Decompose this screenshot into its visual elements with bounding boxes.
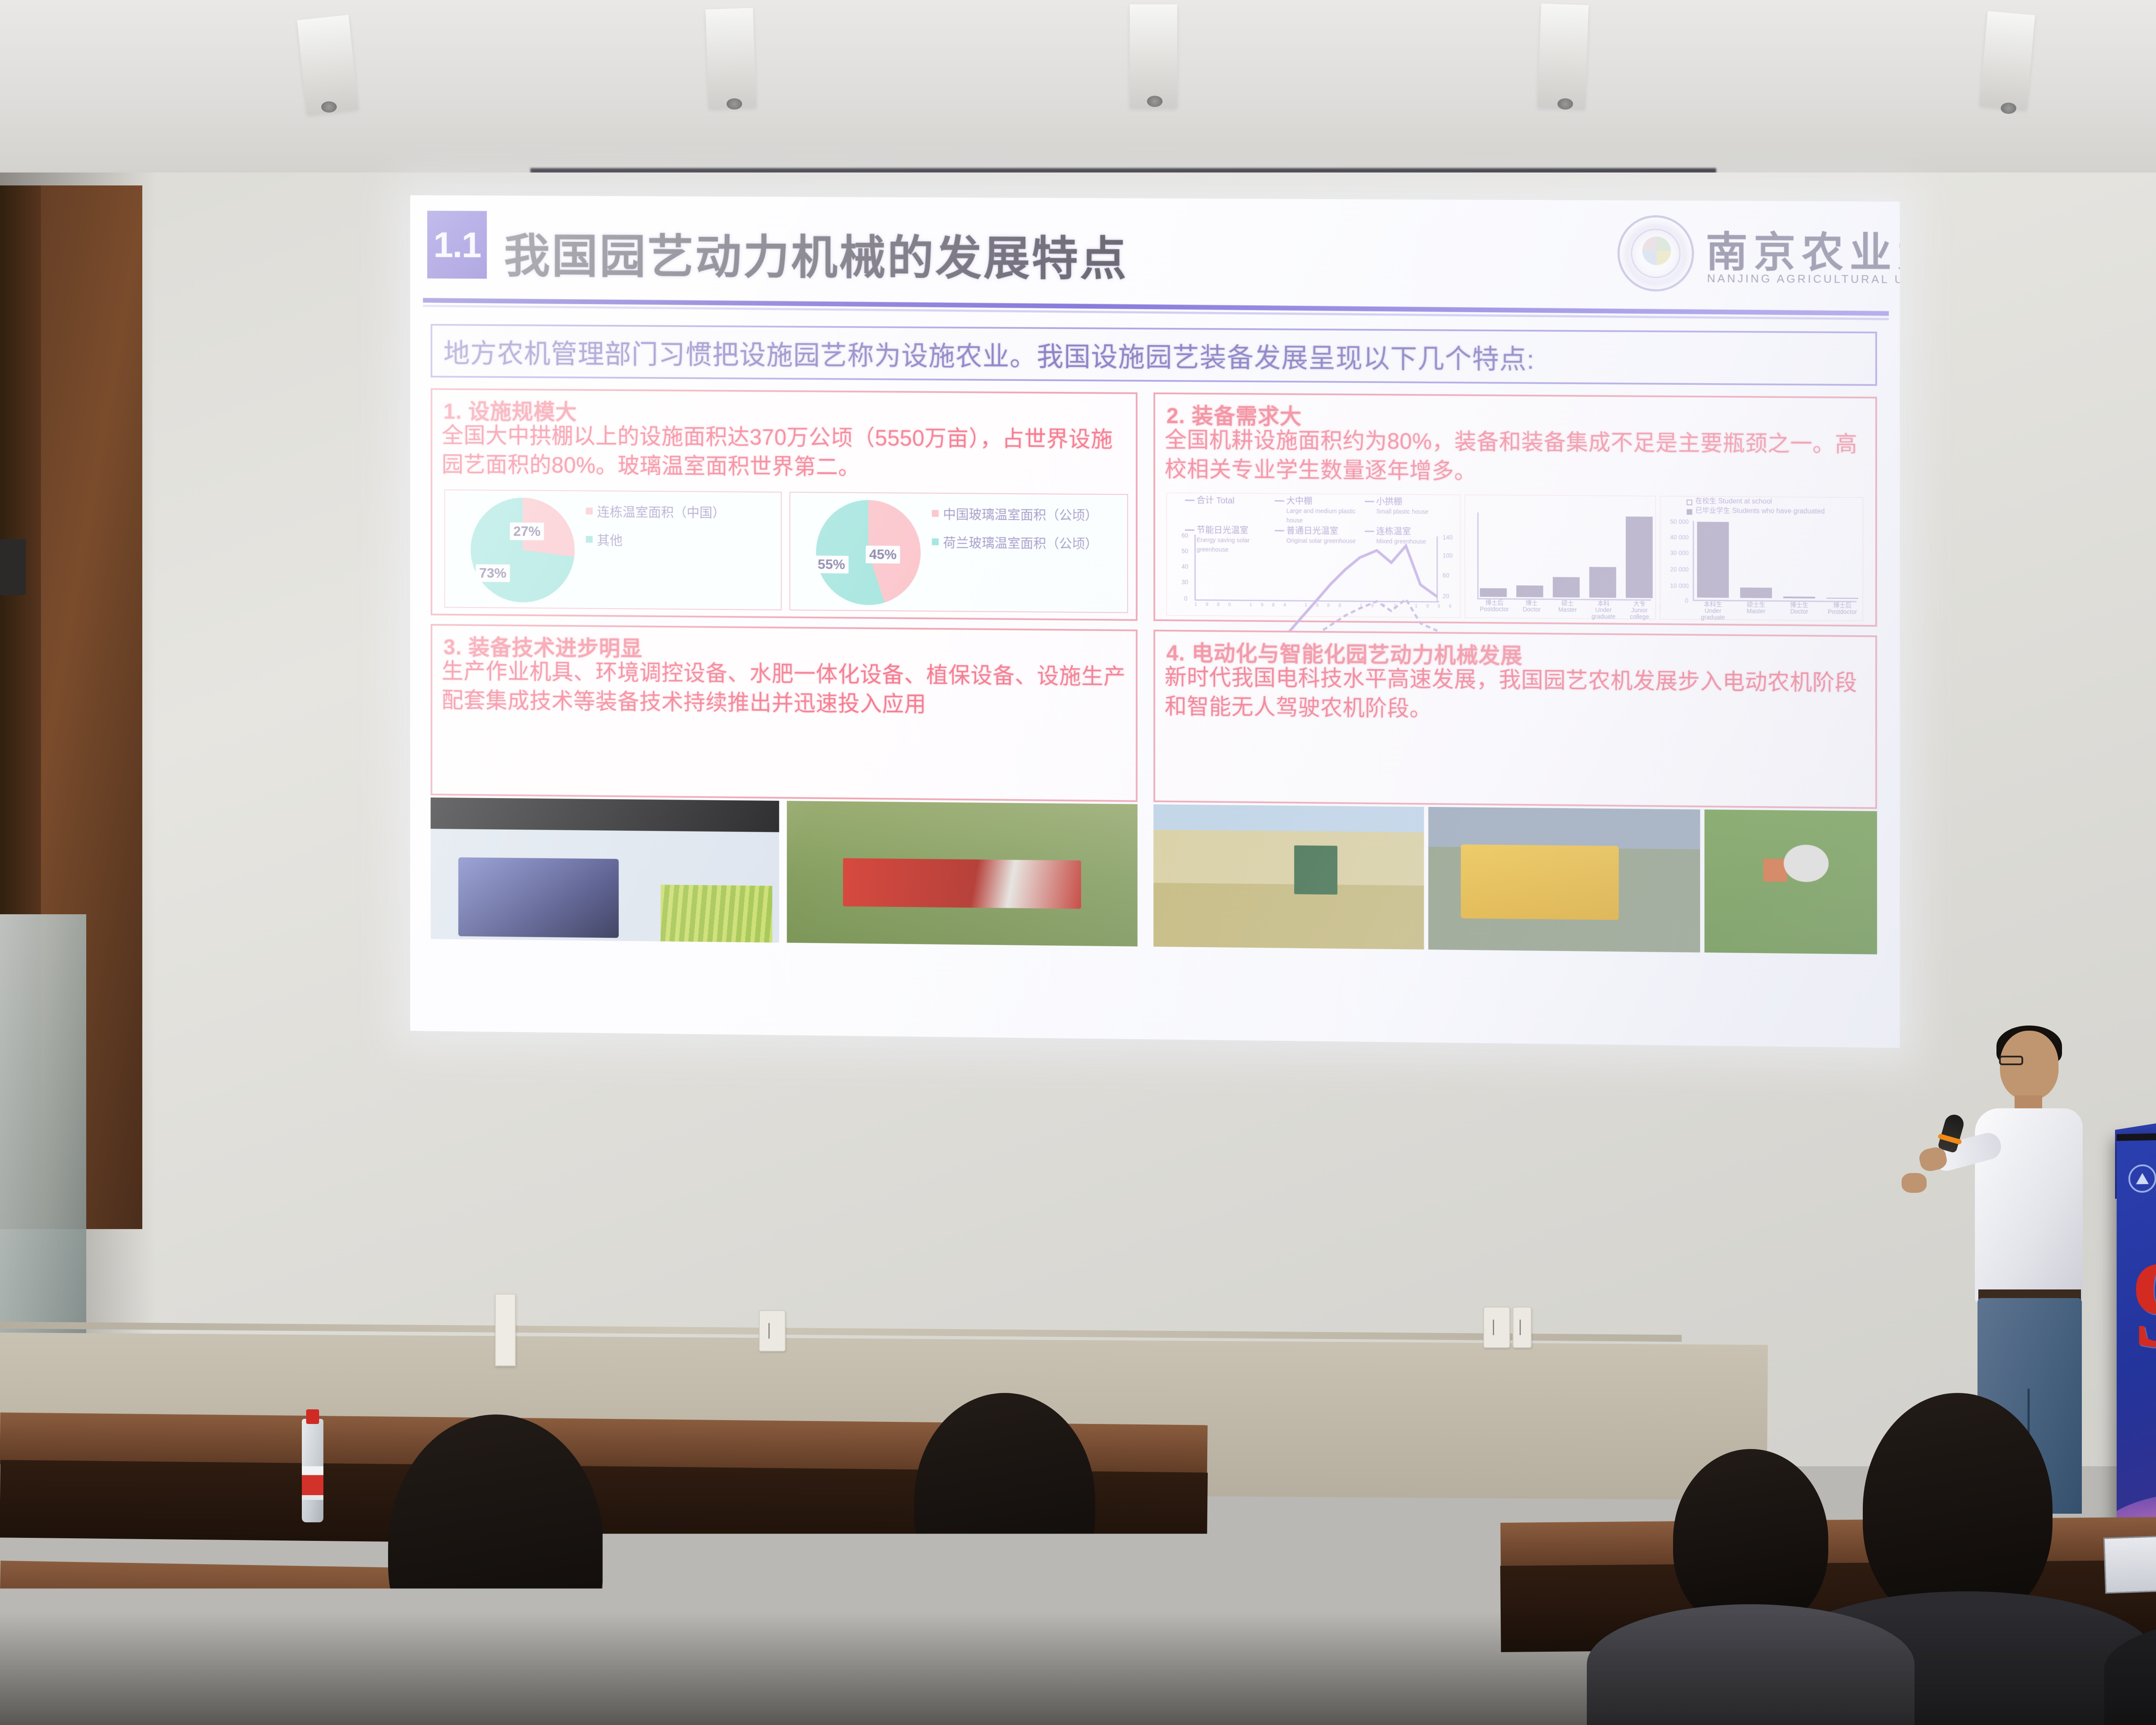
line-legend-cn-5: 连栋温室	[1376, 527, 1411, 537]
ceiling-lamp-3	[1147, 96, 1163, 107]
bar2-y-tick-20000: 20 000	[1670, 566, 1689, 573]
ceiling-lamp-2	[727, 98, 742, 110]
presenter-head	[2000, 1031, 2059, 1100]
pie-2-legend: 中国玻璃温室面积（公顷） 荷兰玻璃温室面积（公顷）	[932, 507, 1124, 565]
legend-dash-icon	[1365, 530, 1374, 532]
slide-header: 1.1 我国园艺动力机械的发展特点 南京农业大学 NANJING AGRICUL…	[410, 207, 1900, 313]
bar2-series	[1697, 519, 1858, 599]
presentation-slide: 1.1 我国园艺动力机械的发展特点 南京农业大学 NANJING AGRICUL…	[410, 195, 1900, 1048]
line-legend-cn-2: 小拱棚	[1376, 497, 1402, 507]
bar2-y-tick-10000: 10 000	[1670, 582, 1689, 589]
pie-2-slice-label-b: 55%	[814, 555, 849, 573]
water-bottle-cap	[306, 1409, 319, 1424]
pie-1-legend-label-a: 连栋温室面积（中国）	[597, 504, 725, 521]
university-seal-icon	[1617, 215, 1694, 292]
y2-tick-60: 60	[1443, 572, 1450, 579]
bar2-label-3: 博士后 Postdoctor	[1827, 602, 1858, 620]
door-left[interactable]	[0, 914, 86, 1345]
laptop[interactable]	[2103, 1533, 2156, 1593]
slide-title: 我国园艺动力机械的发展特点	[504, 219, 1128, 289]
bar2-item-2	[1783, 597, 1815, 599]
bar1-label-2: 硕士 Master	[1554, 600, 1581, 618]
bar1-item-1	[1516, 585, 1543, 597]
bar2-y-tick-40000: 40 000	[1670, 534, 1689, 541]
bar2-y-axis	[1693, 521, 1694, 601]
bar1-y-axis	[1477, 512, 1479, 599]
y-tick-30: 30	[1181, 579, 1188, 586]
line-legend-cn-0: 合计 Total	[1197, 496, 1235, 506]
ceiling-lamp-5	[2001, 103, 2016, 114]
pie-1-slice-label-b: 73%	[476, 564, 510, 582]
bar1-category-labels: 博士后 Postdoctor 博士 Doctor 硕士 Master 本科 Un…	[1480, 599, 1653, 618]
quadrant-2-body: 全国机耕设施面积约为80%，装备和装备集成不足是主要瓶颈之一。高校相关专业学生数…	[1165, 425, 1867, 489]
ceiling-light-strip-4	[1538, 3, 1589, 109]
intro-box: 地方农机管理部门习惯把设施园艺称为设施农业。我国设施园艺装备发展呈现以下几个特点…	[431, 324, 1877, 386]
university-name-en: NANJING AGRICULTURAL UNIVERSITY	[1707, 272, 1900, 286]
pie-1-legend-item-a: 连栋温室面积（中国）	[586, 504, 777, 521]
bar2-legend-label-1: 已毕业学生 Students who have graduated	[1695, 507, 1825, 516]
bar2-y-tick-0: 0	[1685, 597, 1688, 604]
legend-swatch-pink-icon	[932, 510, 939, 517]
podium: 机械工程学院 SCHOOL OF MECHANICAL ENGINEERING …	[2117, 1130, 2156, 1570]
pie-1-slice-label-a: 27%	[510, 523, 544, 540]
tractor-field-photo	[1153, 804, 1424, 950]
y2-tick-140: 140	[1443, 534, 1453, 541]
section-number-text: 1.1	[433, 224, 480, 266]
pie-2-legend-label-a: 中国玻璃温室面积（公顷）	[943, 507, 1098, 524]
bar2-label-2: 博士生 Doctor	[1783, 602, 1815, 619]
wall-outlet-2[interactable]	[1483, 1307, 1510, 1348]
pie-2-slice-label-a: 45%	[866, 546, 900, 563]
legend-swatch-hollow-icon	[1686, 499, 1692, 505]
bar1-item-4	[1626, 517, 1653, 598]
wall-outlet-3[interactable]	[1513, 1307, 1532, 1348]
line-legend-en-2: Small plastic house	[1376, 508, 1429, 515]
wall-fixture-left	[0, 539, 26, 595]
bar1-label-3: 本科 Under graduate	[1590, 600, 1617, 618]
water-bottle-label	[302, 1466, 323, 1500]
greenhouse-transplanter-photo	[431, 797, 779, 943]
line-legend-cn-3: 节能日光温室	[1197, 526, 1248, 536]
foreground-vignette	[0, 1613, 2156, 1725]
audience-head	[1863, 1393, 2053, 1626]
legend-swatch-teal-icon	[932, 538, 939, 545]
bar2-label-1: 硕士生 Master	[1740, 601, 1772, 619]
bar2-legend: 在校生 Student at school 已毕业学生 Students who…	[1686, 497, 1860, 517]
legend-swatch-pink-icon	[586, 508, 593, 514]
projection-screen: 1.1 我国园艺动力机械的发展特点 南京农业大学 NANJING AGRICUL…	[410, 195, 1900, 1048]
bar2-category-labels: 本科生 Under graduate 硕士生 Master 博士生 Doctor…	[1697, 601, 1858, 620]
line-legend-item-1: 大中棚 Large and medium plastic house	[1275, 496, 1364, 525]
bar1-series	[1480, 512, 1653, 598]
pie-chart-glass-greenhouse: 45% 55% 中国玻璃温室面积（公顷） 荷兰玻璃温室面积（公顷）	[790, 492, 1128, 613]
lawn-robot-photo	[1705, 809, 1877, 954]
quadrant-2: 2. 装备需求大 全国机耕设施面积约为80%，装备和装备集成不足是主要瓶颈之一。…	[1153, 392, 1877, 627]
line-legend-item-0: 合计 Total	[1185, 496, 1275, 524]
bar1-item-0	[1480, 588, 1507, 597]
ceiling-light-strip-2	[705, 8, 756, 109]
bar1-label-4: 大专 Junior college	[1626, 600, 1653, 618]
line-legend-item-2: 小拱棚 Small plastic house	[1365, 497, 1455, 526]
bar2-y-tick-50000: 50 000	[1670, 518, 1689, 525]
bar2-legend-item-0: 在校生 Student at school	[1686, 497, 1860, 506]
ceiling-light-strip-5	[1980, 11, 2035, 110]
quadrant-3-body: 生产作业机具、环境调控设备、水肥一体化设备、植保设备、设施生产配套集成技术等装备…	[442, 656, 1127, 721]
quadrant-1: 1. 设施规模大 全国大中拱棚以上的设施面积达370万公顷（5550万亩），占世…	[431, 388, 1138, 621]
quadrant-4-body: 新时代我国电科技水平高速发展，我国园艺农机发展步入电动农机阶段和智能无人驾驶农机…	[1165, 662, 1867, 728]
section-number-badge: 1.1	[427, 211, 487, 279]
pie-1-legend-label-b: 其他	[597, 532, 622, 549]
wall-outlet-1[interactable]	[759, 1310, 786, 1352]
legend-dash-icon	[1185, 500, 1194, 501]
pie-2-legend-item-b: 荷兰玻璃温室面积（公顷）	[932, 535, 1124, 552]
bar2-y-tick-30000: 30 000	[1670, 549, 1689, 556]
quadrant-4: 4. 电动化与智能化园艺动力机械发展 新时代我国电科技水平高速发展，我国园艺农机…	[1153, 630, 1877, 809]
bar2-legend-item-1: 已毕业学生 Students who have graduated	[1686, 507, 1860, 516]
y-tick-0: 0	[1184, 595, 1188, 602]
bar1-label-1: 博士 Doctor	[1518, 600, 1545, 618]
legend-dash-icon	[1365, 501, 1374, 502]
y-tick-60: 60	[1181, 532, 1188, 539]
line-chart-protected-area: 合计 Total 大中棚 Large and medium plastic ho…	[1166, 492, 1460, 618]
legend-swatch-teal-icon	[586, 536, 593, 543]
pie-chart-greenhouse-china: 27% 73% 连栋温室面积（中国） 其他	[444, 489, 782, 610]
bar2-label-0: 本科生 Under graduate	[1697, 601, 1729, 619]
y2-tick-100: 100	[1443, 552, 1453, 559]
university-logo: 南京农业大学 NANJING AGRICULTURAL UNIVERSITY	[1612, 212, 1882, 300]
line-legend-cn-4: 普通日光温室	[1286, 526, 1338, 536]
lecture-room: 1.1 我国园艺动力机械的发展特点 南京农业大学 NANJING AGRICUL…	[0, 0, 2156, 1725]
bar2-legend-label-0: 在校生 Student at school	[1695, 498, 1772, 506]
yellow-orchard-machine-photo	[1429, 807, 1701, 953]
pie-2-legend-label-b: 荷兰玻璃温室面积（公顷）	[943, 535, 1098, 552]
anniversary-number: 90	[2133, 1253, 2156, 1355]
bar-chart-practitioner-education: 博士后 Postdoctor 博士 Doctor 硕士 Master 本科 Un…	[1465, 495, 1656, 619]
pie-1-legend-item-b: 其他	[586, 532, 777, 550]
line-legend-cn-1: 大中棚	[1286, 496, 1312, 506]
quadrant-1-body: 全国大中拱棚以上的设施面积达370万公顷（5550万亩），占世界设施园艺面积的8…	[442, 421, 1127, 484]
ceiling-light-strip-3	[1130, 4, 1177, 108]
bar1-item-2	[1553, 577, 1579, 598]
glasses-icon	[1999, 1056, 2023, 1065]
school-seal-icon	[2128, 1164, 2156, 1193]
quadrant-3: 3. 装备技术进步明显 生产作业机具、环境调控设备、水肥一体化设备、植保设备、设…	[431, 624, 1138, 802]
bar2-item-3	[1827, 598, 1858, 599]
presenter-hand-pointer	[1902, 1173, 1927, 1193]
ceiling-lamp-1	[321, 101, 337, 113]
pie-graphic-1	[471, 497, 575, 602]
y2-tick-20: 20	[1443, 593, 1450, 599]
ceiling-lamp-4	[1557, 98, 1573, 110]
bar1-item-3	[1589, 567, 1616, 598]
wall-junction-box	[495, 1294, 516, 1366]
university-name-cn: 南京农业大学	[1706, 218, 1900, 280]
legend-swatch-filled-icon	[1686, 509, 1692, 515]
bar1-label-0: 博士后 Postdoctor	[1480, 599, 1509, 617]
field-harvester-photo	[787, 801, 1138, 947]
photo-row-quadrant-4	[1153, 804, 1877, 954]
legend-dash-icon	[1185, 529, 1194, 530]
pie-1-legend: 连栋温室面积（中国） 其他	[586, 504, 777, 562]
bar2-item-1	[1740, 588, 1772, 598]
ceiling-light-strip-1	[297, 15, 358, 114]
intro-text: 地方农机管理部门习惯把设施园艺称为设施农业。我国设施园艺装备发展呈现以下几个特点…	[432, 331, 1535, 376]
y-tick-40: 40	[1181, 563, 1188, 570]
legend-dash-icon	[1275, 530, 1284, 531]
bar2-item-0	[1697, 522, 1729, 598]
legend-dash-icon	[1275, 500, 1284, 502]
line-legend-en-1: Large and medium plastic house	[1286, 508, 1356, 524]
pie-2-legend-item-a: 中国玻璃温室面积（公顷）	[932, 507, 1124, 524]
audience-head	[1673, 1449, 1828, 1630]
y-tick-50: 50	[1181, 548, 1188, 555]
photo-row-quadrant-3	[431, 797, 1138, 946]
bar-chart-student-count: 在校生 Student at school 已毕业学生 Students who…	[1660, 496, 1863, 621]
